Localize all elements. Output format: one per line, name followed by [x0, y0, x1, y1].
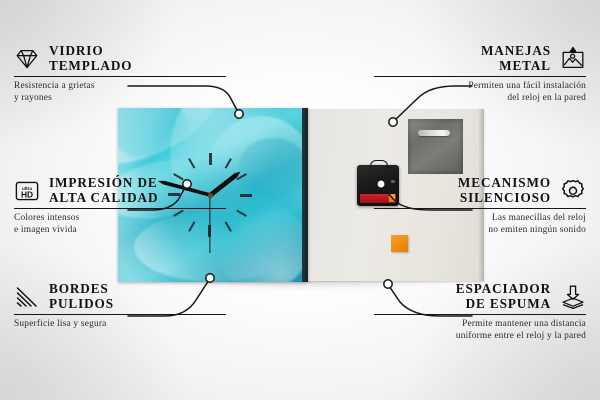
feature-header: MANEJASMETAL [374, 44, 586, 73]
feature-header: ultra HD IMPRESIÓN DEALTA CALIDAD [14, 176, 226, 205]
mechanism-hanging-loop [370, 160, 388, 170]
feature-bordes-pulidos[interactable]: BORDESPULIDOS Superficie lisa y segura [14, 282, 226, 331]
feature-divider [374, 76, 586, 77]
metal-hanger-plate [408, 119, 463, 174]
feature-description: Permite mantener una distancia uniforme … [374, 319, 586, 342]
feature-manejas-metal[interactable]: MANEJASMETAL Permiten una fácil instalac… [374, 44, 586, 105]
hanger-slot [418, 130, 450, 136]
feature-title: BORDESPULIDOS [49, 282, 226, 311]
feature-header: MECANISMOSILENCIOSO [374, 176, 586, 205]
feature-divider [14, 314, 226, 315]
feature-header: ESPACIADORDE ESPUMA [374, 282, 586, 311]
feature-header: VIDRIOTEMPLADO [14, 44, 226, 73]
feature-mecanismo-silencioso[interactable]: MECANISMOSILENCIOSO Las manecillas del r… [374, 176, 586, 237]
feature-title: VIDRIOTEMPLADO [49, 44, 226, 73]
feature-description: Colores intensos e imagen vívida [14, 213, 226, 236]
picture-frame-hanging-icon [560, 46, 586, 72]
gear-icon [560, 178, 586, 204]
feature-description: Resistencia a grietas y rayones [14, 81, 226, 104]
feature-impresion-alta-calidad[interactable]: ultra HD IMPRESIÓN DEALTA CALIDAD Colore… [14, 176, 226, 237]
feature-vidrio-templado[interactable]: VIDRIOTEMPLADO Resistencia a grietas y r… [14, 44, 226, 105]
feature-description: Superficie lisa y segura [14, 319, 226, 331]
feature-divider [14, 208, 226, 209]
ultra-hd-icon: ultra HD [14, 178, 40, 204]
foam-spacer-arrow-icon [560, 284, 586, 310]
feature-description: Permiten una fácil instalación del reloj… [374, 81, 586, 104]
infographic-canvas: VIDRIOTEMPLADO Resistencia a grietas y r… [0, 0, 600, 400]
feature-title: ESPACIADORDE ESPUMA [374, 282, 551, 311]
polished-edges-icon [14, 284, 40, 310]
feature-title: MANEJASMETAL [374, 44, 551, 73]
feature-title: MECANISMOSILENCIOSO [374, 176, 551, 205]
feature-divider [14, 76, 226, 77]
feature-divider [374, 208, 586, 209]
feature-description: Las manecillas del reloj no emiten ningú… [374, 213, 586, 236]
feature-header: BORDESPULIDOS [14, 282, 226, 311]
feature-title: IMPRESIÓN DEALTA CALIDAD [49, 176, 226, 205]
svg-text:HD: HD [21, 189, 33, 199]
feature-divider [374, 314, 586, 315]
foam-spacer [391, 235, 408, 252]
diamond-icon [14, 46, 40, 72]
feature-espaciador-de-espuma[interactable]: ESPACIADORDE ESPUMA Permite mantener una… [374, 282, 586, 343]
clock-side-edge [302, 108, 308, 282]
